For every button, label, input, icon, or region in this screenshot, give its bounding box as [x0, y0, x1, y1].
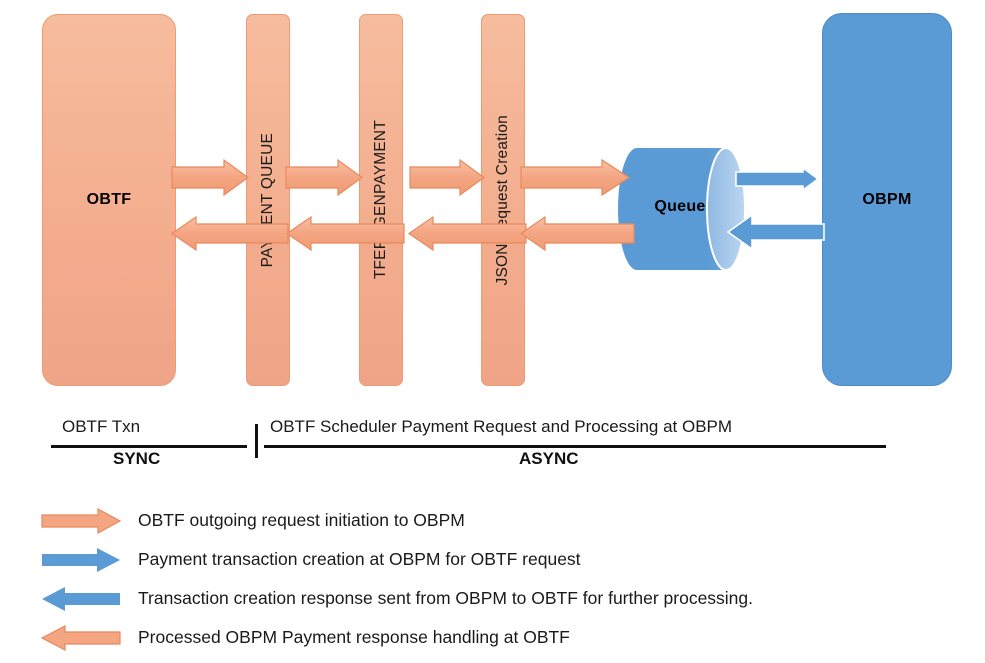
arrow-json-request-to-tfepsgenpayment	[409, 217, 526, 250]
legend-item-2-text: Transaction creation response sent from …	[138, 590, 753, 608]
legend-item-1-text: Payment transaction creation at OBPM for…	[138, 551, 581, 569]
arrow-queue-to-obpm	[736, 168, 818, 190]
arrow-obtf-to-payment-queue	[172, 160, 248, 195]
arrow-payment-queue-to-obtf	[172, 217, 288, 250]
legend-item-1: Payment transaction creation at OBPM for…	[40, 547, 581, 573]
band-async-bottom-label: ASYNC	[519, 449, 579, 469]
arrow-queue-to-json-request	[521, 217, 634, 250]
flow-arrows	[0, 0, 985, 420]
legend-item-0: OBTF outgoing request initiation to OBPM	[40, 508, 465, 534]
arrow-obpm-to-queue	[728, 215, 824, 249]
legend-item-3: Processed OBPM Payment response handling…	[40, 625, 570, 651]
diagram-canvas: OBTF PAYMENT QUEUE TFEPSGENPAYMENT JSON …	[0, 0, 985, 663]
legend-item-2: Transaction creation response sent from …	[40, 586, 753, 612]
arrow-tfepsgenpayment-to-json-request	[410, 160, 484, 195]
arrow-left-orange-icon	[40, 625, 122, 651]
band-async-rule	[264, 445, 886, 448]
arrow-tfepsgenpayment-to-payment-queue	[287, 217, 404, 250]
legend-item-3-text: Processed OBPM Payment response handling…	[138, 629, 570, 647]
arrow-json-request-to-queue	[521, 160, 629, 195]
legend-item-0-text: OBTF outgoing request initiation to OBPM	[138, 512, 465, 530]
arrow-right-blue-icon	[40, 547, 122, 573]
band-async: OBTF Scheduler Payment Request and Proce…	[0, 415, 985, 475]
arrow-right-orange-icon	[40, 508, 122, 534]
band-async-top-label: OBTF Scheduler Payment Request and Proce…	[270, 417, 732, 437]
arrow-payment-queue-to-tfepsgenpayment	[286, 160, 362, 195]
arrow-left-blue-icon	[40, 586, 122, 612]
